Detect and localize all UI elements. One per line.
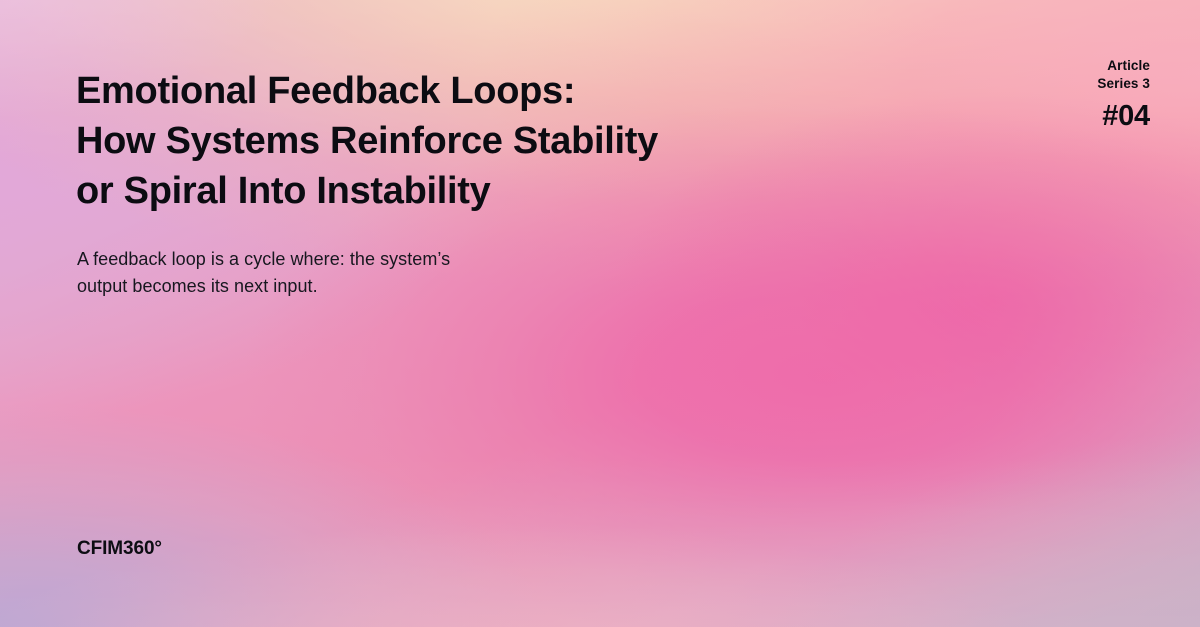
page-subtitle-line-1: A feedback loop is a cycle where: the sy… [77,246,597,273]
series-badge: Article Series 3 #04 [930,57,1150,133]
page-subtitle-line-2: output becomes its next input. [77,273,597,300]
page-title: Emotional Feedback Loops: How Systems Re… [76,66,836,216]
page-subtitle: A feedback loop is a cycle where: the sy… [77,246,597,300]
page-title-line-2: How Systems Reinforce Stability [76,116,836,166]
page-title-line-3: or Spiral Into Instability [76,166,836,216]
series-label-line-2: Series 3 [930,75,1150,93]
series-label-line-1: Article [930,57,1150,75]
series-label: Article Series 3 [930,57,1150,93]
banner-content: Emotional Feedback Loops: How Systems Re… [0,0,1200,627]
article-banner: Emotional Feedback Loops: How Systems Re… [0,0,1200,627]
page-title-line-1: Emotional Feedback Loops: [76,66,836,116]
brand-logo: CFIM360° [77,537,162,561]
series-number: #04 [930,99,1150,133]
